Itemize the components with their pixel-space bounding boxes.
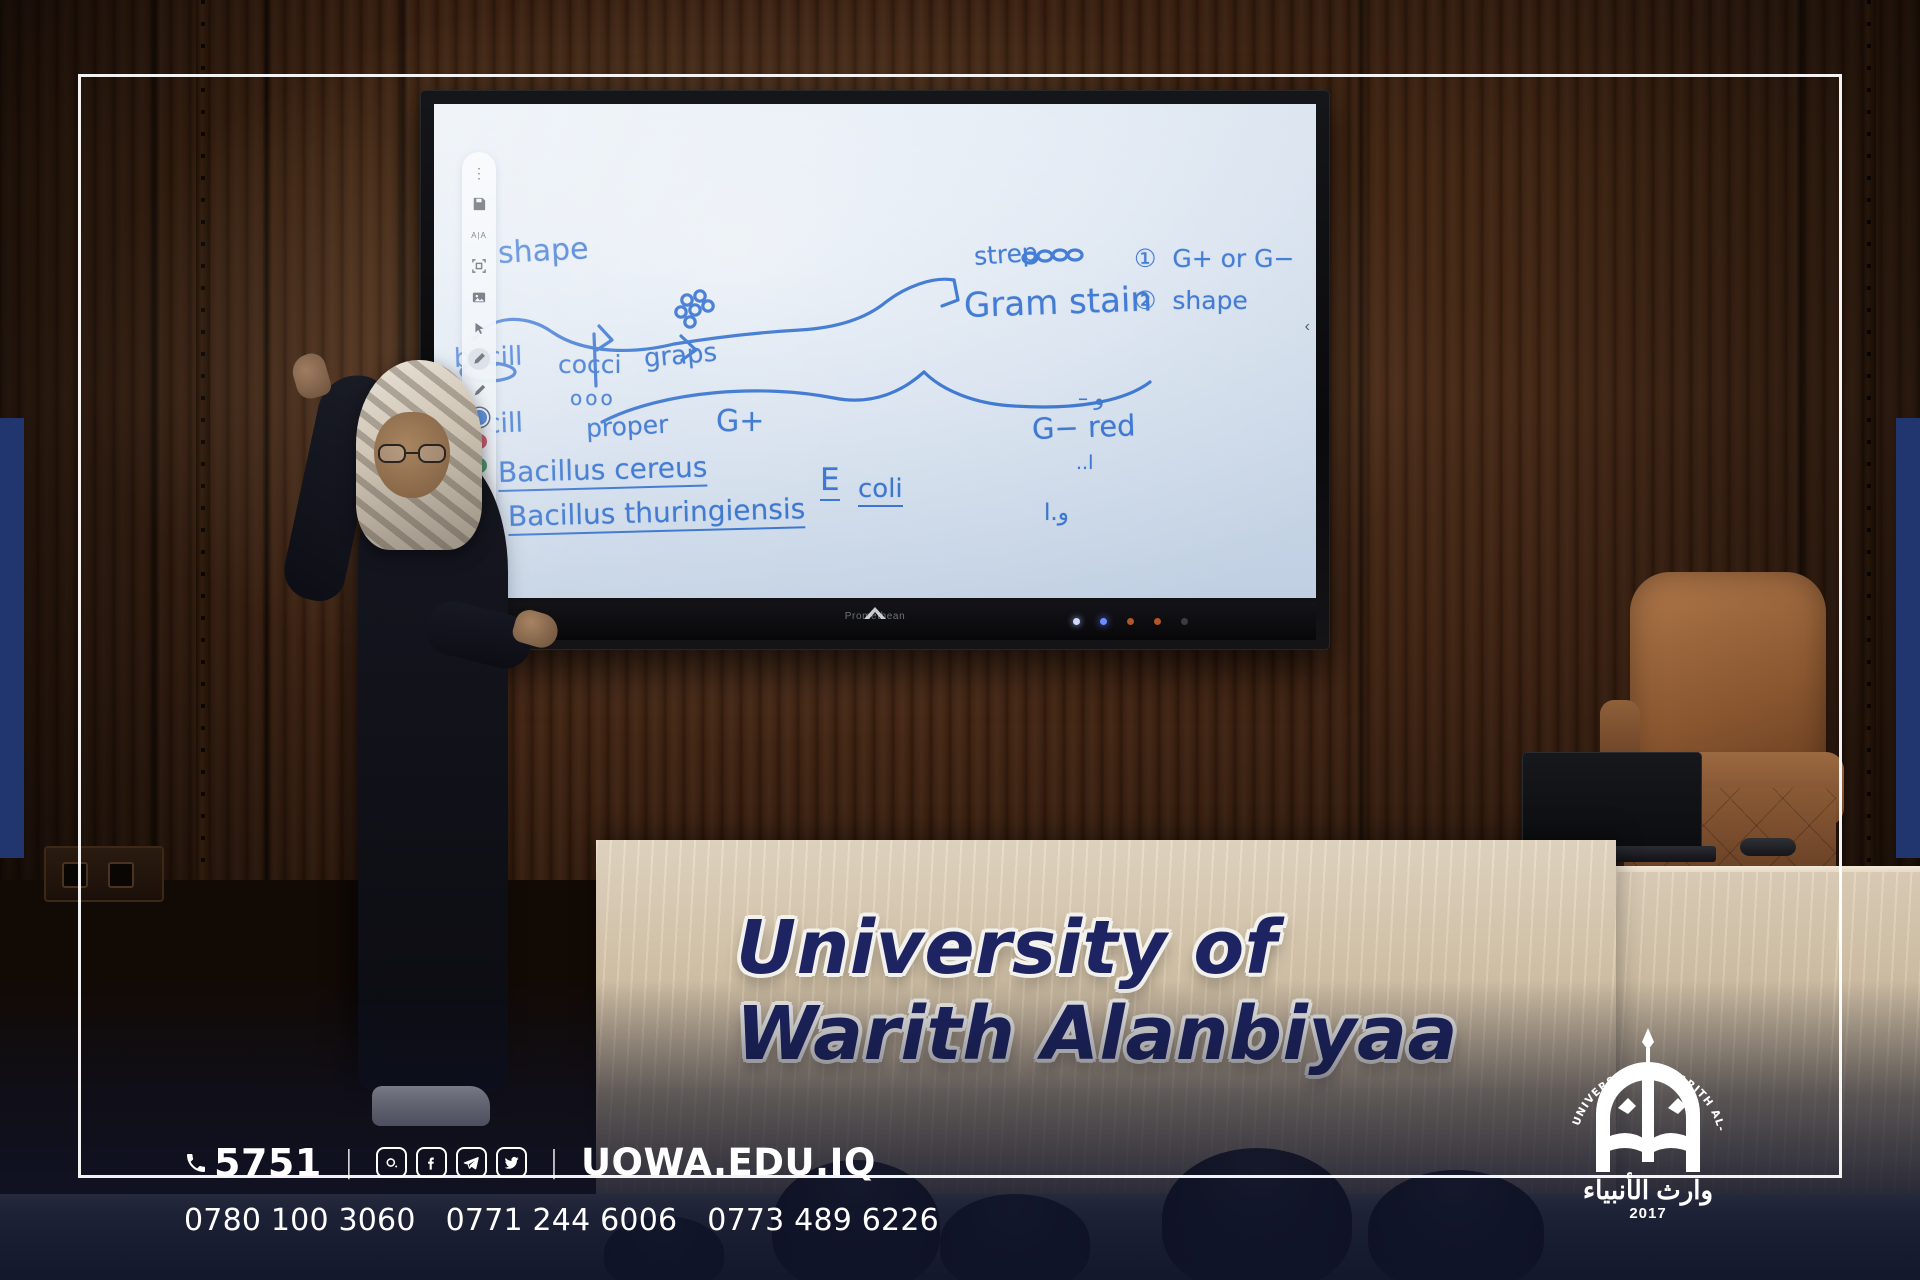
save-icon[interactable] [468, 193, 490, 215]
phone-icon [184, 1151, 208, 1175]
presenter-glasses [376, 444, 450, 464]
ink-list-number-2: ② [1134, 286, 1156, 315]
university-crest: UNIVERSITY OF WARITH AL-ANBIYAA وارث الأ… [1558, 1022, 1738, 1222]
podium-sign-line-1: University of [736, 906, 1576, 992]
ink-list-item-2: ② shape [1134, 286, 1248, 315]
footer-phone-row: 0780 100 3060 0771 244 6006 0773 489 622… [184, 1203, 939, 1238]
ink-list-number-1: ① [1134, 244, 1156, 273]
footer-separator-1: | [338, 1145, 360, 1180]
panel-collapse-handle-right[interactable]: ‹ [1305, 318, 1310, 336]
select-region-icon[interactable] [468, 255, 490, 277]
facebook-icon[interactable] [416, 1147, 447, 1178]
footer-separator-2: | [543, 1145, 565, 1180]
more-options-icon[interactable]: ⋮ [468, 162, 490, 184]
ink-gram-negative: G− red [1031, 408, 1136, 446]
ink-proper: proper [585, 410, 669, 443]
social-links[interactable] [376, 1147, 527, 1178]
accent-bar-right [1896, 418, 1920, 858]
ink-ecoli-species: coli [858, 474, 903, 507]
ink-list-text-2: shape [1164, 286, 1247, 315]
promethean-chevron-logo [862, 606, 888, 620]
ink-ecoli-genus: E [820, 462, 840, 501]
ink-strep: strep [973, 238, 1039, 271]
crest-year: 2017 [1558, 1205, 1738, 1222]
display-status-leds [1073, 618, 1188, 625]
ink-gram-positive: G+ [716, 404, 764, 439]
ink-gram-stain-heading: Gram stain [963, 279, 1152, 326]
twitter-icon[interactable] [496, 1147, 527, 1178]
insert-image-icon[interactable] [468, 286, 490, 308]
instagram-icon[interactable] [376, 1147, 407, 1178]
ink-list-item-1: ① G+ or G− [1134, 244, 1294, 273]
website-url[interactable]: UOWA.EDU.IQ [581, 1141, 876, 1184]
ink-shape-heading: shape [497, 231, 589, 271]
laptop-screen [1522, 752, 1702, 848]
office-chair-back [1630, 572, 1826, 782]
ink-arabic-note-1: و.ا [1044, 500, 1069, 526]
telegram-icon[interactable] [456, 1147, 487, 1178]
hotline-number[interactable]: 5751 [184, 1144, 322, 1182]
ink-gram-neg-note: – و [1078, 386, 1104, 410]
computer-mouse [1740, 838, 1796, 856]
phone-number-3[interactable]: 0773 489 6226 [707, 1203, 939, 1238]
cursor-pointer-icon[interactable] [468, 317, 490, 339]
screenshot-root: shape bacill cocci ooo graps strep Gram … [0, 0, 1920, 1280]
crest-arabic-name: وارث الأنبياء [1558, 1175, 1738, 1206]
accent-bar-left [0, 418, 24, 858]
text-size-icon[interactable]: A|A [468, 224, 490, 246]
ink-arabic-note-2: ..ا [1076, 452, 1093, 474]
phone-number-2[interactable]: 0771 244 6006 [446, 1203, 678, 1238]
ink-list-text-1: G+ or G− [1164, 244, 1294, 273]
phone-number-1[interactable]: 0780 100 3060 [184, 1203, 416, 1238]
footer-primary-row: 5751 | [184, 1141, 876, 1184]
wall-power-socket [44, 846, 164, 902]
hotline-number-text: 5751 [214, 1144, 322, 1182]
ink-graps: graps [643, 338, 719, 374]
